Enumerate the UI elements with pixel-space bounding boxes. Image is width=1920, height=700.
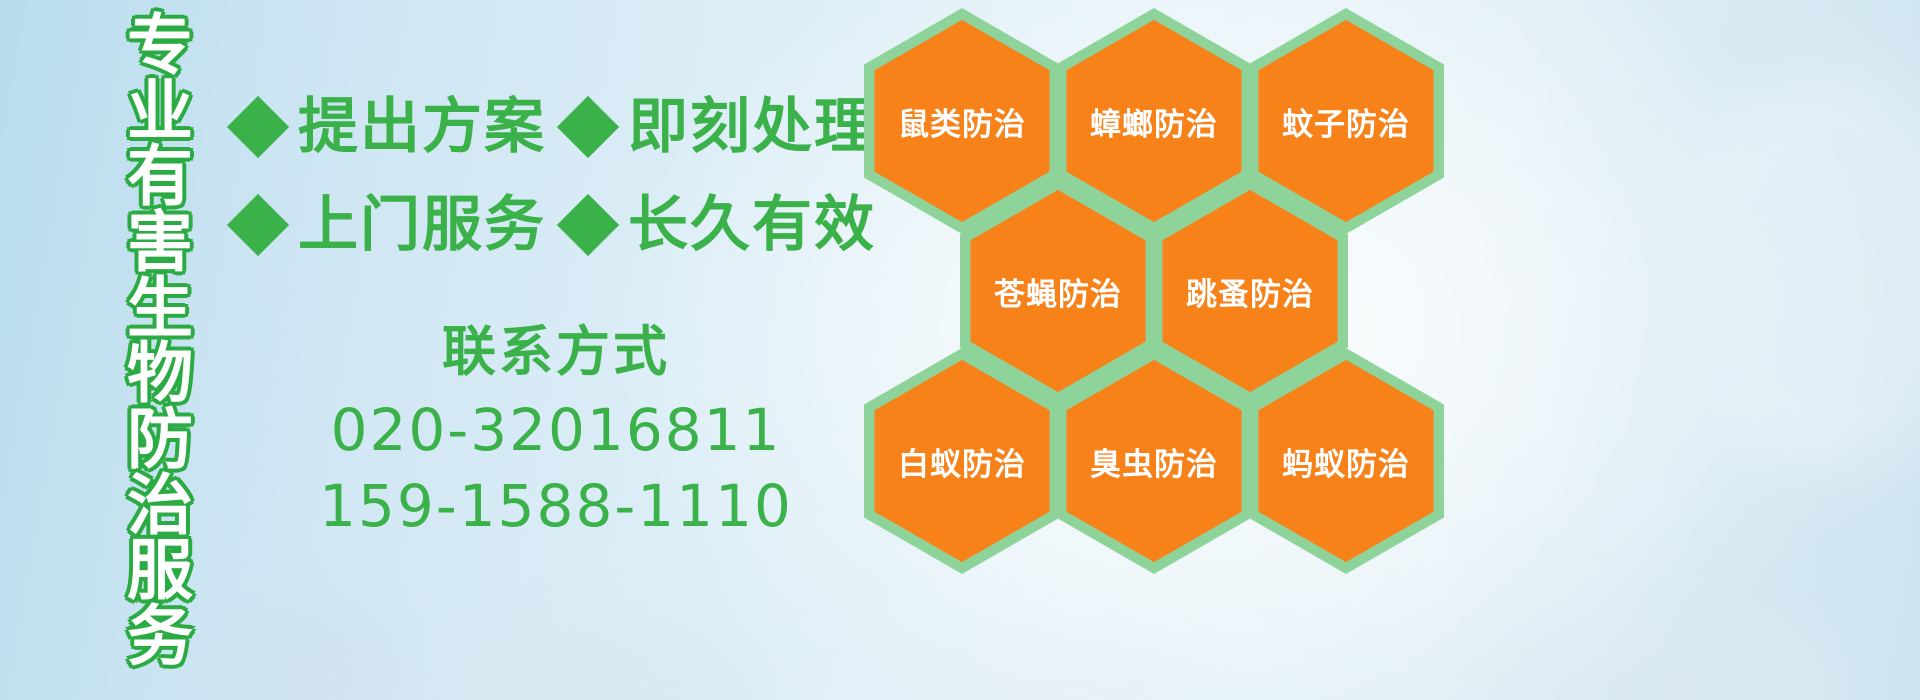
service-hexagon-label: 蚂蚁防治 [1248, 348, 1444, 574]
feature-row: 提出方案 即刻处理 [236, 78, 876, 176]
feature-row: 上门服务 长久有效 [236, 176, 876, 274]
vertical-headline-char: 防 [127, 408, 193, 473]
vertical-headline-char: 生 [127, 277, 193, 342]
vertical-headline-char: 治 [127, 474, 193, 539]
feature-label: 即刻处理 [628, 97, 876, 157]
vertical-headline-char: 害 [127, 211, 193, 276]
vertical-headline-char: 专 [127, 14, 193, 79]
diamond-icon [227, 194, 289, 256]
contact-block: 联系方式 020-32016811 159-1588-1110 [236, 318, 876, 545]
vertical-headline-char: 有 [127, 145, 193, 210]
feature-label: 上门服务 [298, 195, 546, 255]
vertical-headline-char: 务 [127, 605, 193, 670]
background-blob [470, 620, 770, 700]
contact-heading: 联系方式 [236, 318, 876, 386]
feature-list: 提出方案 即刻处理 上门服务 长久有效 [236, 78, 876, 274]
contact-phone-landline[interactable]: 020-32016811 [236, 392, 876, 469]
promo-banner: 专 业 有 害 生 物 防 治 服 务 提出方案 即刻处理 上门服务 [0, 0, 1920, 700]
diamond-icon [557, 194, 619, 256]
contact-phone-mobile[interactable]: 159-1588-1110 [236, 468, 876, 545]
feature-label: 提出方案 [298, 97, 546, 157]
feature-item-propose-plan: 提出方案 [236, 97, 546, 157]
service-hexagon-label: 白蚁防治 [864, 348, 1060, 574]
service-hexagon-termite[interactable]: 白蚁防治 [864, 348, 1060, 574]
background-blob [190, 600, 410, 700]
feature-item-onsite-service: 上门服务 [236, 195, 546, 255]
background-blob [930, 630, 1190, 700]
feature-item-immediate-action: 即刻处理 [566, 97, 876, 157]
vertical-headline-char: 服 [127, 539, 193, 604]
diamond-icon [557, 96, 619, 158]
service-hexagon-ant[interactable]: 蚂蚁防治 [1248, 348, 1444, 574]
background-blob [1680, 60, 1920, 480]
background-blob [1460, 600, 1840, 700]
vertical-headline-char: 物 [127, 342, 193, 407]
vertical-headline-char: 业 [127, 80, 193, 145]
diamond-icon [227, 96, 289, 158]
service-hexagon-grid: 鼠类防治 蟑螂防治 蚊子防治 苍蝇防治 跳蚤防治 白蚁防治 [860, 0, 1460, 560]
service-hexagon-label: 臭虫防治 [1056, 348, 1252, 574]
service-hexagon-bedbug[interactable]: 臭虫防治 [1056, 348, 1252, 574]
feature-item-long-lasting: 长久有效 [566, 195, 876, 255]
feature-label: 长久有效 [628, 195, 876, 255]
vertical-headline: 专 业 有 害 生 物 防 治 服 务 [108, 14, 212, 686]
